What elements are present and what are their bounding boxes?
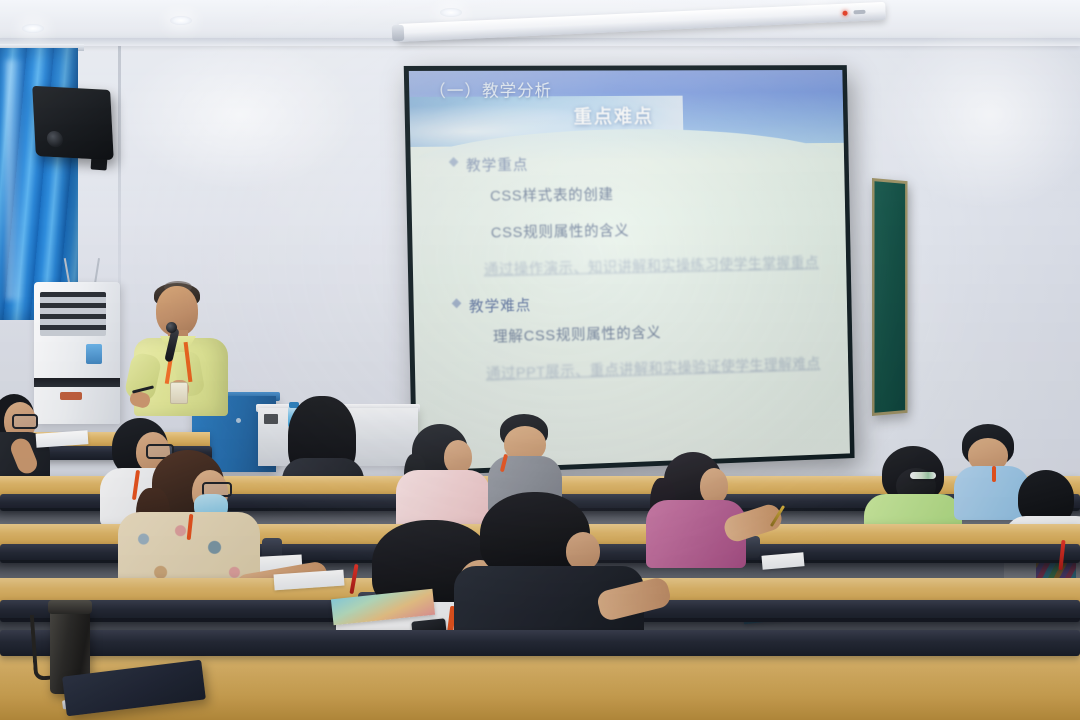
- ceiling-lip: [0, 38, 1080, 46]
- green-chalkboard: [872, 178, 908, 416]
- speaker-cone-icon: [47, 131, 64, 148]
- ceiling-downlight: [22, 24, 44, 33]
- slide-bullet-line: CSS规则属性的含义: [491, 216, 846, 243]
- p10-hair-clip: [910, 472, 936, 479]
- wall-speaker: [32, 86, 114, 160]
- desk-rail-foreground: [0, 630, 1080, 656]
- ceiling-downlight: [170, 16, 192, 25]
- projection-screen: （一）教学分析 重点难点 教学重点 CSS样式表的创建 CSS规则属性的含义 通…: [404, 65, 855, 476]
- slide-title: （一）教学分析: [429, 77, 552, 102]
- slide-subtitle: 重点难点: [573, 102, 654, 129]
- slide-section-heading-text: 教学难点: [469, 297, 532, 315]
- air-conditioner: [34, 282, 120, 424]
- slide-bullet-line: 理解CSS规则属性的含义: [493, 316, 848, 346]
- slide-body: 教学重点 CSS样式表的创建 CSS规则属性的含义 通过操作演示、知识讲解和实操…: [411, 151, 849, 402]
- diamond-bullet-icon: [452, 298, 462, 308]
- microphone-head-icon: [166, 322, 177, 333]
- screen-control-button[interactable]: [853, 10, 865, 15]
- classroom-photo: （一）教学分析 重点难点 教学重点 CSS样式表的创建 CSS规则属性的含义 通…: [0, 0, 1080, 720]
- p11-lanyard: [992, 466, 996, 482]
- housing-end-cap: [392, 25, 405, 42]
- curtain-highlight: [6, 60, 24, 300]
- instructor-id-badge: [170, 382, 188, 404]
- instructor: [128, 286, 236, 416]
- p1-glasses-icon: [12, 414, 38, 429]
- slide-bullet-line-underlined: 通过操作演示、知识讲解和实操练习使学生掌握重点: [484, 251, 847, 279]
- slide-bullet-line: CSS样式表的创建: [490, 180, 845, 205]
- p5-head: [444, 440, 472, 474]
- slide-bullet-line-underlined: 通过PPT展示、重点讲解和实操验证使学生理解难点: [486, 352, 849, 384]
- diamond-bullet-icon: [449, 157, 459, 167]
- p7-head: [700, 468, 728, 504]
- ac-trim-band: [34, 378, 120, 387]
- slide-surface: （一）教学分析 重点难点 教学重点 CSS样式表的创建 CSS规则属性的含义 通…: [409, 70, 850, 471]
- p8-head: [566, 532, 600, 570]
- ac-vent-grille: [40, 292, 106, 336]
- ac-logo: [60, 392, 82, 400]
- counter-control-panel[interactable]: [264, 414, 278, 424]
- slide-section-heading-text: 教学重点: [466, 157, 529, 175]
- slide-section-heading: 教学难点: [469, 287, 847, 317]
- slide-section-heading: 教学重点: [466, 151, 845, 176]
- ac-sticker: [86, 344, 102, 364]
- podium-knob: [236, 418, 241, 423]
- thermos-lid: [48, 600, 92, 614]
- ceiling-downlight: [440, 8, 462, 17]
- screen-indicator-light-icon: [842, 11, 847, 16]
